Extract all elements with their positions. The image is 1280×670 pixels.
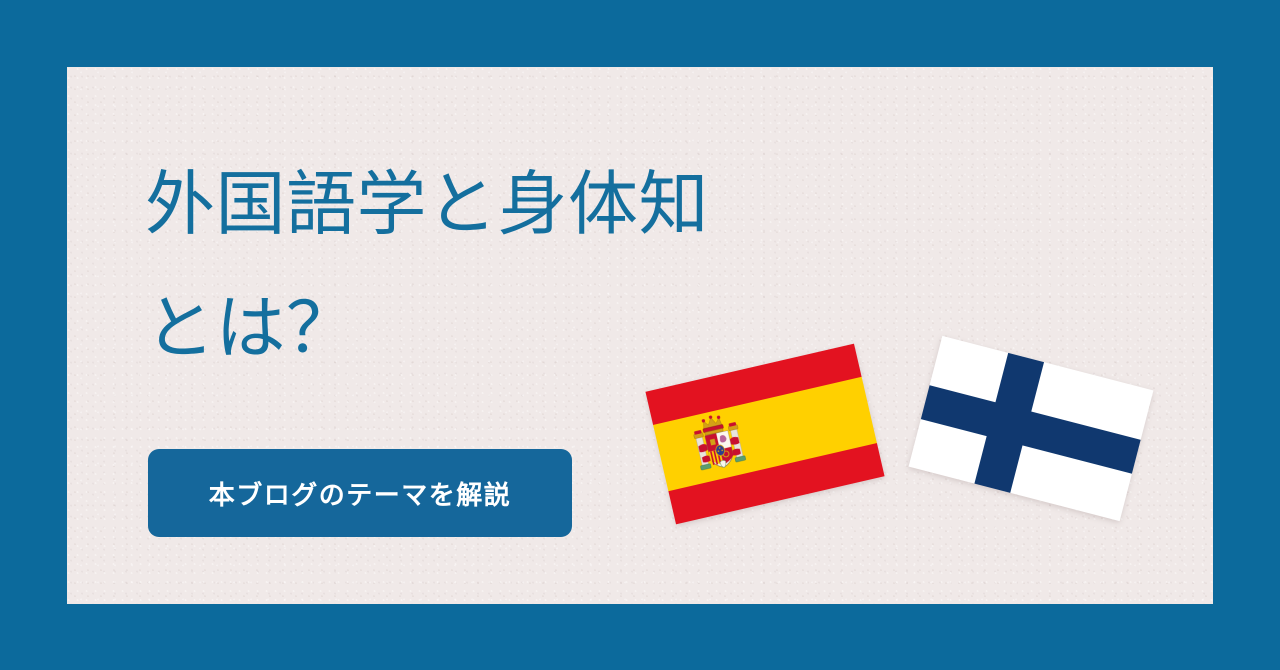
finland-flag-face (909, 336, 1154, 521)
page-title-line-2: とは？ (145, 266, 945, 390)
page-title: 外国語学と身体知 とは？ (145, 142, 945, 390)
finland-flag (909, 336, 1154, 521)
page-title-line-1: 外国語学と身体知 (145, 142, 945, 266)
explain-blog-theme-button[interactable]: 本ブログのテーマを解説 (148, 449, 572, 537)
blog-banner: 外国語学と身体知 とは？ 本ブログのテーマを解説 (0, 0, 1280, 670)
banner-inner-card: 外国語学と身体知 とは？ 本ブログのテーマを解説 (67, 67, 1213, 604)
spain-coat-of-arms-icon (687, 407, 752, 485)
